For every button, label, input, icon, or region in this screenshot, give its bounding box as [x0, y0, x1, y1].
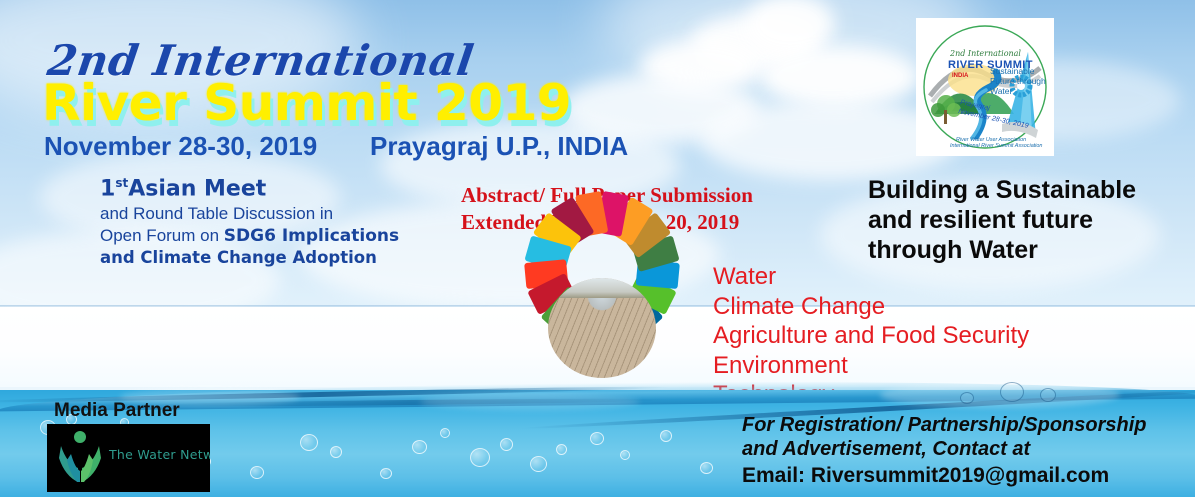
event-tagline: Building a Sustainable and resilient fut… [868, 175, 1136, 265]
water-bubble [556, 444, 567, 455]
water-bubble [620, 450, 630, 460]
water-bubble [412, 440, 427, 454]
water-bubble [1000, 382, 1024, 402]
event-date: November 28-30, 2019 [44, 131, 317, 162]
logo-motto-line2: Future through [990, 76, 1046, 86]
water-bubble [380, 468, 392, 479]
water-bubble [300, 434, 318, 451]
topic-item: Agriculture and Food Security [713, 321, 1029, 351]
contact-line1: For Registration/ Partnership/Sponsorshi… [742, 413, 1147, 437]
asian-meet-line3-plain: Open Forum on [100, 226, 224, 245]
horizon-sky [548, 278, 656, 298]
water-bubble [470, 448, 490, 467]
event-location: Prayagraj U.P., INDIA [370, 131, 628, 162]
asian-meet-line2: and Round Table Discussion in [100, 204, 430, 225]
cloud-icon [640, 40, 760, 92]
asian-meet-ordinal-suffix: st [115, 176, 128, 190]
media-partner-logo[interactable]: The Water Network [47, 424, 210, 492]
river-summit-logo: 2nd International RIVER SUMMIT INDIA Sus… [916, 18, 1054, 156]
cracked-earth-photo [548, 278, 656, 378]
cloud-icon [745, 0, 835, 54]
water-bubble [250, 466, 264, 479]
event-title: River Summit 2019 [42, 74, 571, 132]
asian-meet-line3-bold: SDG6 Implications [224, 226, 399, 246]
logo-country-text: INDIA [952, 73, 969, 79]
event-banner: 2nd International River Summit 2019 Nove… [0, 0, 1195, 497]
contact-line2: and Advertisement, Contact at [742, 437, 1147, 461]
logo-footer-line2: International River Summit Association [950, 143, 1042, 149]
asian-meet-ordinal: 1 [100, 176, 115, 201]
topic-item: Climate Change [713, 292, 1029, 322]
cloud-icon [690, 14, 820, 72]
water-bubble [1040, 388, 1056, 402]
asian-meet-line3: Open Forum on SDG6 Implications [100, 226, 430, 247]
logo-motto-line1: Sustainable [990, 66, 1035, 76]
cloud-icon [760, 46, 920, 108]
contact-email[interactable]: Email: Riversummit2019@gmail.com [742, 463, 1147, 489]
water-bubble [660, 430, 672, 442]
logo-script-text: 2nd International [949, 49, 1021, 58]
tagline-line1: Building a Sustainable [868, 175, 1136, 205]
asian-meet-block: 1stAsian Meet and Round Table Discussion… [100, 176, 430, 268]
topic-item: Water [713, 262, 1029, 292]
water-bubble [500, 438, 513, 451]
media-partner-logo-text: The Water Network [109, 447, 210, 462]
water-bubble [590, 432, 604, 445]
water-foam [420, 394, 640, 410]
water-bubble [700, 462, 713, 474]
contact-block: For Registration/ Partnership/Sponsorshi… [742, 413, 1147, 488]
asian-meet-title: Asian Meet [128, 176, 266, 201]
water-bubble [530, 456, 547, 472]
media-partner-label: Media Partner [54, 400, 180, 422]
water-bubble [440, 428, 450, 438]
tagline-line3: through Water [868, 235, 1136, 265]
tagline-line2: and resilient future [868, 205, 1136, 235]
river-summit-logo-svg: 2nd International RIVER SUMMIT INDIA Sus… [916, 18, 1054, 156]
water-bubble [330, 446, 342, 458]
asian-meet-line4: and Climate Change Adoption [100, 248, 430, 268]
logo-motto-line3: Water [990, 86, 1013, 96]
asian-meet-heading: 1stAsian Meet [100, 176, 430, 203]
water-bubble [960, 392, 974, 404]
